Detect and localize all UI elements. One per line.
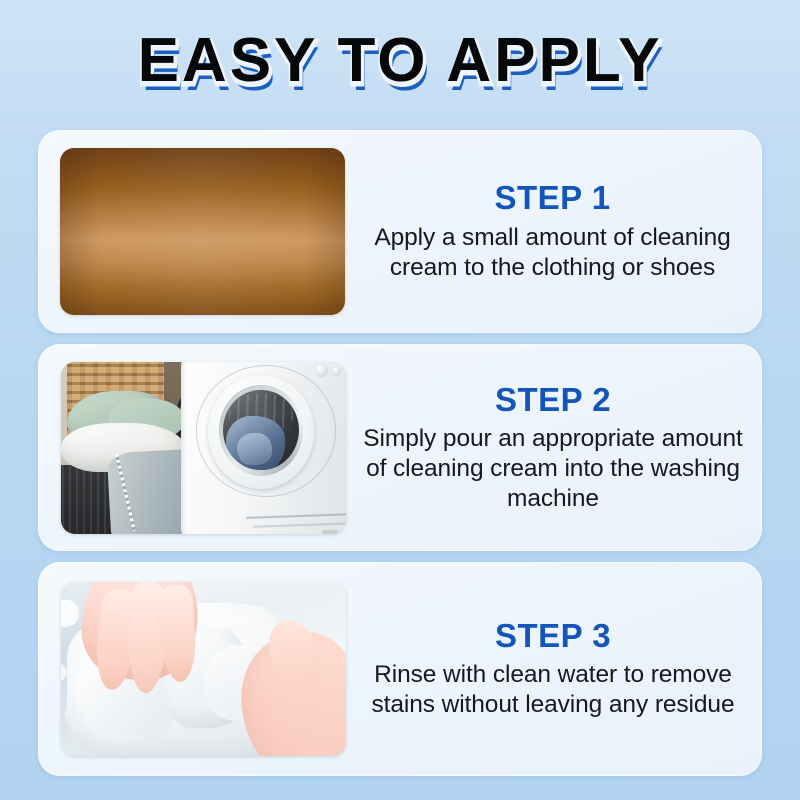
step-card-3[interactable]: STEP 3 Rinse with clean water to remove … — [38, 562, 762, 776]
step-3-heading: STEP 3 — [358, 618, 748, 654]
step-2-body: Simply pour an appropriate amount of cle… — [358, 424, 748, 514]
step-3-thumbnail[interactable] — [61, 582, 346, 756]
page-title-text: EASY TO APPLY — [138, 30, 663, 92]
page-title: EASY TO APPLY EASY TO APPLY EASY TO APPL… — [138, 30, 663, 92]
step-2-thumbnail[interactable] — [61, 362, 346, 534]
step-3-body: Rinse with clean water to remove stains … — [358, 660, 748, 720]
photo-haze-overlay — [61, 582, 346, 756]
washer-seam-lower — [253, 523, 346, 528]
page-header: EASY TO APPLY EASY TO APPLY EASY TO APPL… — [0, 0, 800, 122]
washer-seam — [246, 513, 346, 518]
step-1-heading: STEP 1 — [357, 180, 748, 216]
step-card-1[interactable]: STEP 1 Apply a small amount of cleaning … — [38, 130, 762, 333]
step-1-text-block: STEP 1 Apply a small amount of cleaning … — [345, 180, 762, 282]
step-2-text-block: STEP 2 Simply pour an appropriate amount… — [346, 382, 762, 514]
step-3-text-block: STEP 3 Rinse with clean water to remove … — [346, 618, 762, 720]
steps-list: STEP 1 Apply a small amount of cleaning … — [38, 130, 762, 776]
washing-machine-body — [181, 362, 346, 534]
washer-dial-icon — [315, 364, 328, 377]
step-1-thumbnail[interactable] — [60, 148, 345, 315]
washer-foot — [322, 530, 338, 534]
denim-laundry-highlight — [237, 433, 272, 465]
step-1-body: Apply a small amount of cleaning cream t… — [357, 223, 748, 283]
washer-button-icon — [332, 367, 341, 376]
washer-drum — [223, 390, 298, 470]
step-2-heading: STEP 2 — [358, 382, 748, 418]
copper-gradient-swatch-image — [60, 148, 345, 315]
washing-machine-photo-image — [61, 362, 346, 534]
hands-rinsing-fabric-photo-image — [61, 582, 346, 756]
step-card-2[interactable]: STEP 2 Simply pour an appropriate amount… — [38, 344, 762, 551]
